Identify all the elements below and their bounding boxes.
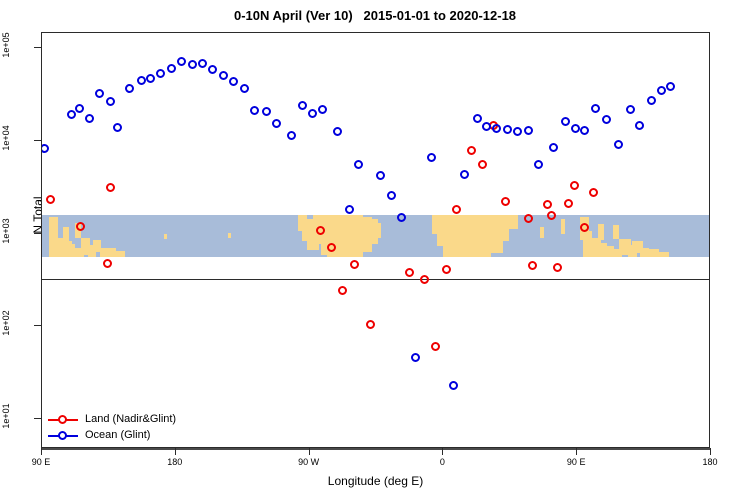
data-point-ocean [333, 127, 342, 136]
data-point-ocean [146, 74, 155, 83]
data-point-ocean [580, 126, 589, 135]
data-point-ocean [571, 124, 580, 133]
data-point-land [501, 197, 510, 206]
data-point-ocean [156, 69, 165, 78]
data-point-ocean [167, 64, 176, 73]
data-point-ocean [272, 119, 281, 128]
data-point-ocean [614, 140, 623, 149]
legend-item-land[interactable]: Land (Nadir&Glint) [48, 411, 176, 427]
legend-label-land: Land (Nadir&Glint) [85, 413, 176, 425]
data-point-ocean [354, 160, 363, 169]
data-point-ocean [67, 110, 76, 119]
legend-label-ocean: Ocean (Glint) [85, 429, 150, 441]
data-point-land [338, 286, 347, 295]
y-tick [34, 325, 41, 326]
data-point-ocean [229, 77, 238, 86]
x-tick-label: 0 [440, 457, 445, 467]
data-point-ocean [125, 84, 134, 93]
data-point-ocean [198, 59, 207, 68]
reference-line [42, 279, 709, 280]
data-point-land [564, 199, 573, 208]
x-tick [41, 448, 42, 455]
data-point-land [467, 146, 476, 155]
data-point-land [528, 261, 537, 270]
data-point-land [103, 259, 112, 268]
legend: Land (Nadir&Glint) Ocean (Glint) [48, 411, 176, 443]
data-point-ocean [411, 353, 420, 362]
data-point-land [589, 188, 598, 197]
x-tick [175, 448, 176, 455]
data-point-land [350, 260, 359, 269]
data-point-ocean [635, 121, 644, 130]
landmass-shape [228, 233, 231, 238]
data-point-ocean [240, 84, 249, 93]
data-point-ocean [473, 114, 482, 123]
data-point-land [420, 275, 429, 284]
data-point-ocean [95, 89, 104, 98]
x-tick [710, 448, 711, 455]
y-tick-label: 1e+03 [1, 211, 11, 251]
landmass-shape [509, 215, 518, 230]
x-tick-label: 90 E [567, 457, 586, 467]
data-point-ocean [106, 97, 115, 106]
data-point-land [366, 320, 375, 329]
y-tick [34, 47, 41, 48]
data-point-ocean [188, 60, 197, 69]
y-tick-label: 1e+01 [1, 396, 11, 436]
world-map-strip [42, 215, 709, 257]
data-point-ocean [666, 82, 675, 91]
x-tick-label: 90 E [32, 457, 51, 467]
data-point-ocean [85, 114, 94, 123]
data-point-ocean [561, 117, 570, 126]
landmass-shape [369, 223, 381, 238]
data-point-land [452, 205, 461, 214]
data-point-ocean [308, 109, 317, 118]
data-point-land [46, 195, 55, 204]
x-tick-label: 180 [167, 457, 182, 467]
landmass-shape [113, 251, 125, 257]
data-point-ocean [250, 106, 259, 115]
data-point-land [524, 214, 533, 223]
page-title: 0-10N April (Ver 10) 2015-01-01 to 2020-… [0, 8, 750, 23]
data-point-ocean [41, 144, 49, 153]
data-point-ocean [492, 124, 501, 133]
x-axis-line [41, 448, 710, 450]
data-point-ocean [298, 101, 307, 110]
data-point-land [570, 181, 579, 190]
legend-marker-land-icon [48, 414, 78, 425]
data-point-ocean [287, 131, 296, 140]
landmass-shape [164, 234, 167, 239]
data-point-ocean [657, 86, 666, 95]
data-point-land [543, 200, 552, 209]
data-point-ocean [503, 125, 512, 134]
y-tick [34, 233, 41, 234]
data-point-ocean [318, 105, 327, 114]
data-point-ocean [75, 104, 84, 113]
data-point-ocean [208, 65, 217, 74]
chart-page: 0-10N April (Ver 10) 2015-01-01 to 2020-… [0, 0, 750, 500]
x-tick [442, 448, 443, 455]
data-point-ocean [397, 213, 406, 222]
landmass-shape [540, 227, 544, 238]
plot-area [41, 32, 710, 448]
data-point-ocean [513, 127, 522, 136]
data-point-ocean [460, 170, 469, 179]
legend-marker-ocean-icon [48, 430, 78, 441]
data-point-ocean [482, 122, 491, 131]
landmass-shape [497, 215, 509, 241]
x-tick [576, 448, 577, 455]
y-tick-label: 1e+04 [1, 118, 11, 158]
y-tick-label: 1e+02 [1, 303, 11, 343]
data-point-ocean [626, 105, 635, 114]
data-point-land [553, 263, 562, 272]
data-point-ocean [262, 107, 271, 116]
data-point-ocean [449, 381, 458, 390]
x-tick-label: 90 W [298, 457, 319, 467]
data-point-ocean [219, 71, 228, 80]
data-point-land [431, 342, 440, 351]
data-point-ocean [427, 153, 436, 162]
landmass-shape [656, 252, 669, 257]
data-point-ocean [602, 115, 611, 124]
y-tick [34, 418, 41, 419]
data-point-land [316, 226, 325, 235]
x-tick [309, 448, 310, 455]
data-point-ocean [647, 96, 656, 105]
data-point-land [478, 160, 487, 169]
data-point-ocean [137, 76, 146, 85]
data-point-ocean [113, 123, 122, 132]
landmass-shape [598, 224, 604, 240]
data-point-ocean [345, 205, 354, 214]
data-point-ocean [534, 160, 543, 169]
data-point-land [106, 183, 115, 192]
landmass-shape [613, 225, 619, 239]
y-tick [34, 140, 41, 141]
data-point-ocean [387, 191, 396, 200]
data-point-ocean [549, 143, 558, 152]
data-point-ocean [591, 104, 600, 113]
data-point-ocean [177, 57, 186, 66]
landmass-shape [63, 227, 69, 245]
data-point-land [405, 268, 414, 277]
data-point-land [442, 265, 451, 274]
y-tick-label: 1e+05 [1, 25, 11, 65]
legend-item-ocean[interactable]: Ocean (Glint) [48, 427, 176, 443]
data-point-ocean [524, 126, 533, 135]
landmass-shape [561, 219, 565, 234]
data-point-ocean [376, 171, 385, 180]
x-axis-title: Longitude (deg E) [41, 474, 710, 488]
x-tick-label: 180 [702, 457, 717, 467]
